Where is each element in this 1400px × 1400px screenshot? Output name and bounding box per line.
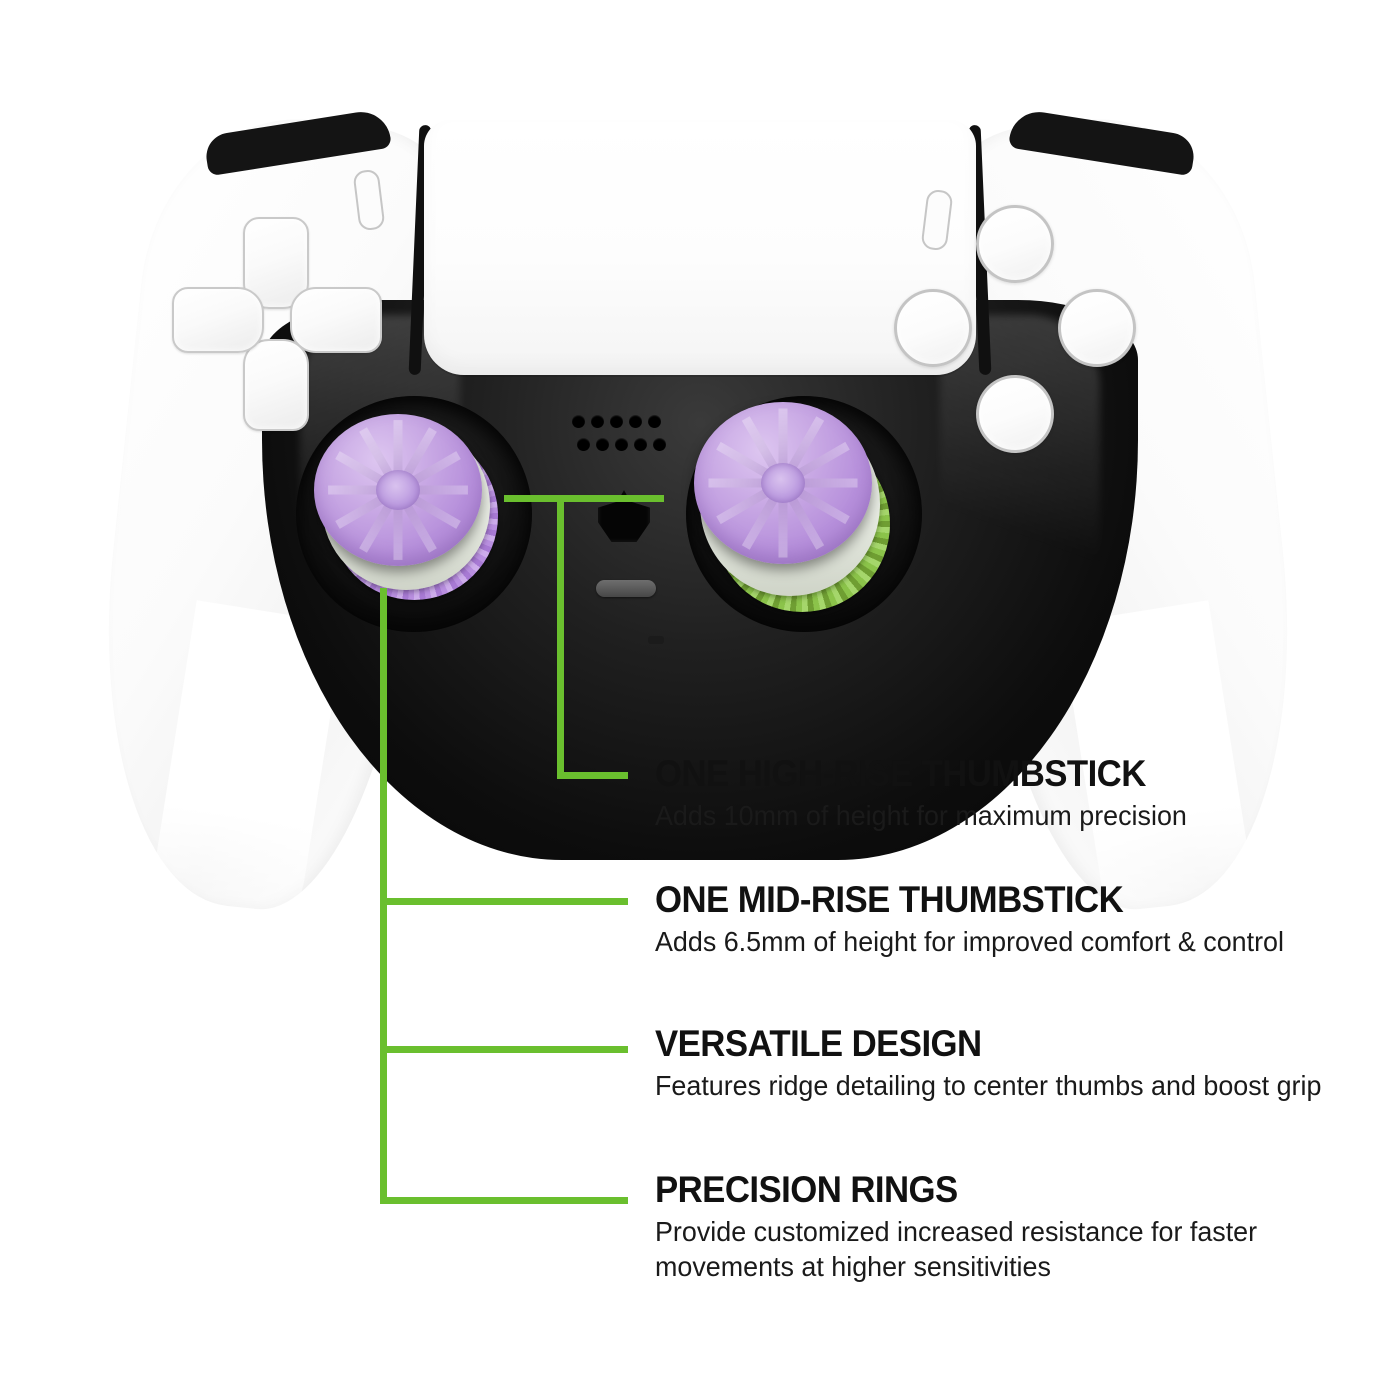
- callout-line-2: [380, 898, 628, 905]
- speaker-hole: [634, 438, 647, 451]
- speaker-hole: [648, 415, 661, 428]
- face-buttons: [886, 205, 1136, 465]
- speaker-hole: [596, 438, 609, 451]
- callout-line-1-segment-c: [557, 772, 628, 779]
- left-thumbstick-cap: [314, 414, 482, 566]
- feature-description: Adds 10mm of height for maximum precisio…: [655, 798, 1327, 833]
- dpad-right-icon: [290, 287, 382, 353]
- speaker-hole: [653, 438, 666, 451]
- dpad-left-icon: [172, 287, 264, 353]
- callout-line-1-segment-a: [504, 495, 664, 502]
- mute-microphone-button: [596, 580, 656, 597]
- square-button-icon: [894, 289, 972, 367]
- feature-title: ONE MID-RISE THUMBSTICK: [655, 878, 1313, 922]
- speaker-hole: [610, 415, 623, 428]
- speaker-hole: [591, 415, 604, 428]
- headset-port: [648, 636, 664, 644]
- feature-item-versatile-design: VERSATILE DESIGN Features ridge detailin…: [655, 1022, 1355, 1103]
- cross-button-icon: [976, 375, 1054, 453]
- feature-title: VERSATILE DESIGN: [655, 1022, 1313, 1066]
- feature-title: PRECISION RINGS: [655, 1168, 1313, 1212]
- feature-description: Provide customized increased resistance …: [655, 1214, 1327, 1284]
- left-thumbstick-hub: [376, 470, 420, 510]
- dpad-down-icon: [243, 339, 309, 431]
- triangle-button-icon: [976, 205, 1054, 283]
- speaker-hole: [615, 438, 628, 451]
- callout-line-4: [380, 1197, 628, 1204]
- d-pad: [168, 215, 388, 435]
- right-thumbstick-hub: [761, 463, 805, 503]
- callout-line-3: [380, 1046, 628, 1053]
- infographic-canvas: ONE HIGH-RISE THUMBSTICK Adds 10mm of he…: [0, 0, 1400, 1400]
- speaker-hole: [629, 415, 642, 428]
- circle-button-icon: [1058, 289, 1136, 367]
- feature-item-mid-rise: ONE MID-RISE THUMBSTICK Adds 6.5mm of he…: [655, 878, 1355, 959]
- feature-item-high-rise: ONE HIGH-RISE THUMBSTICK Adds 10mm of he…: [655, 752, 1355, 833]
- feature-description: Adds 6.5mm of height for improved comfor…: [655, 924, 1327, 959]
- speaker-hole: [572, 415, 585, 428]
- feature-description: Features ridge detailing to center thumb…: [655, 1068, 1327, 1103]
- speaker-hole: [577, 438, 590, 451]
- feature-title: ONE HIGH-RISE THUMBSTICK: [655, 752, 1313, 796]
- feature-item-precision-rings: PRECISION RINGS Provide customized incre…: [655, 1168, 1355, 1284]
- callout-line-trunk: [380, 588, 387, 1204]
- right-thumbstick-cap: [694, 402, 872, 564]
- callout-line-1-segment-b: [557, 495, 564, 779]
- speaker-grille: [572, 415, 670, 457]
